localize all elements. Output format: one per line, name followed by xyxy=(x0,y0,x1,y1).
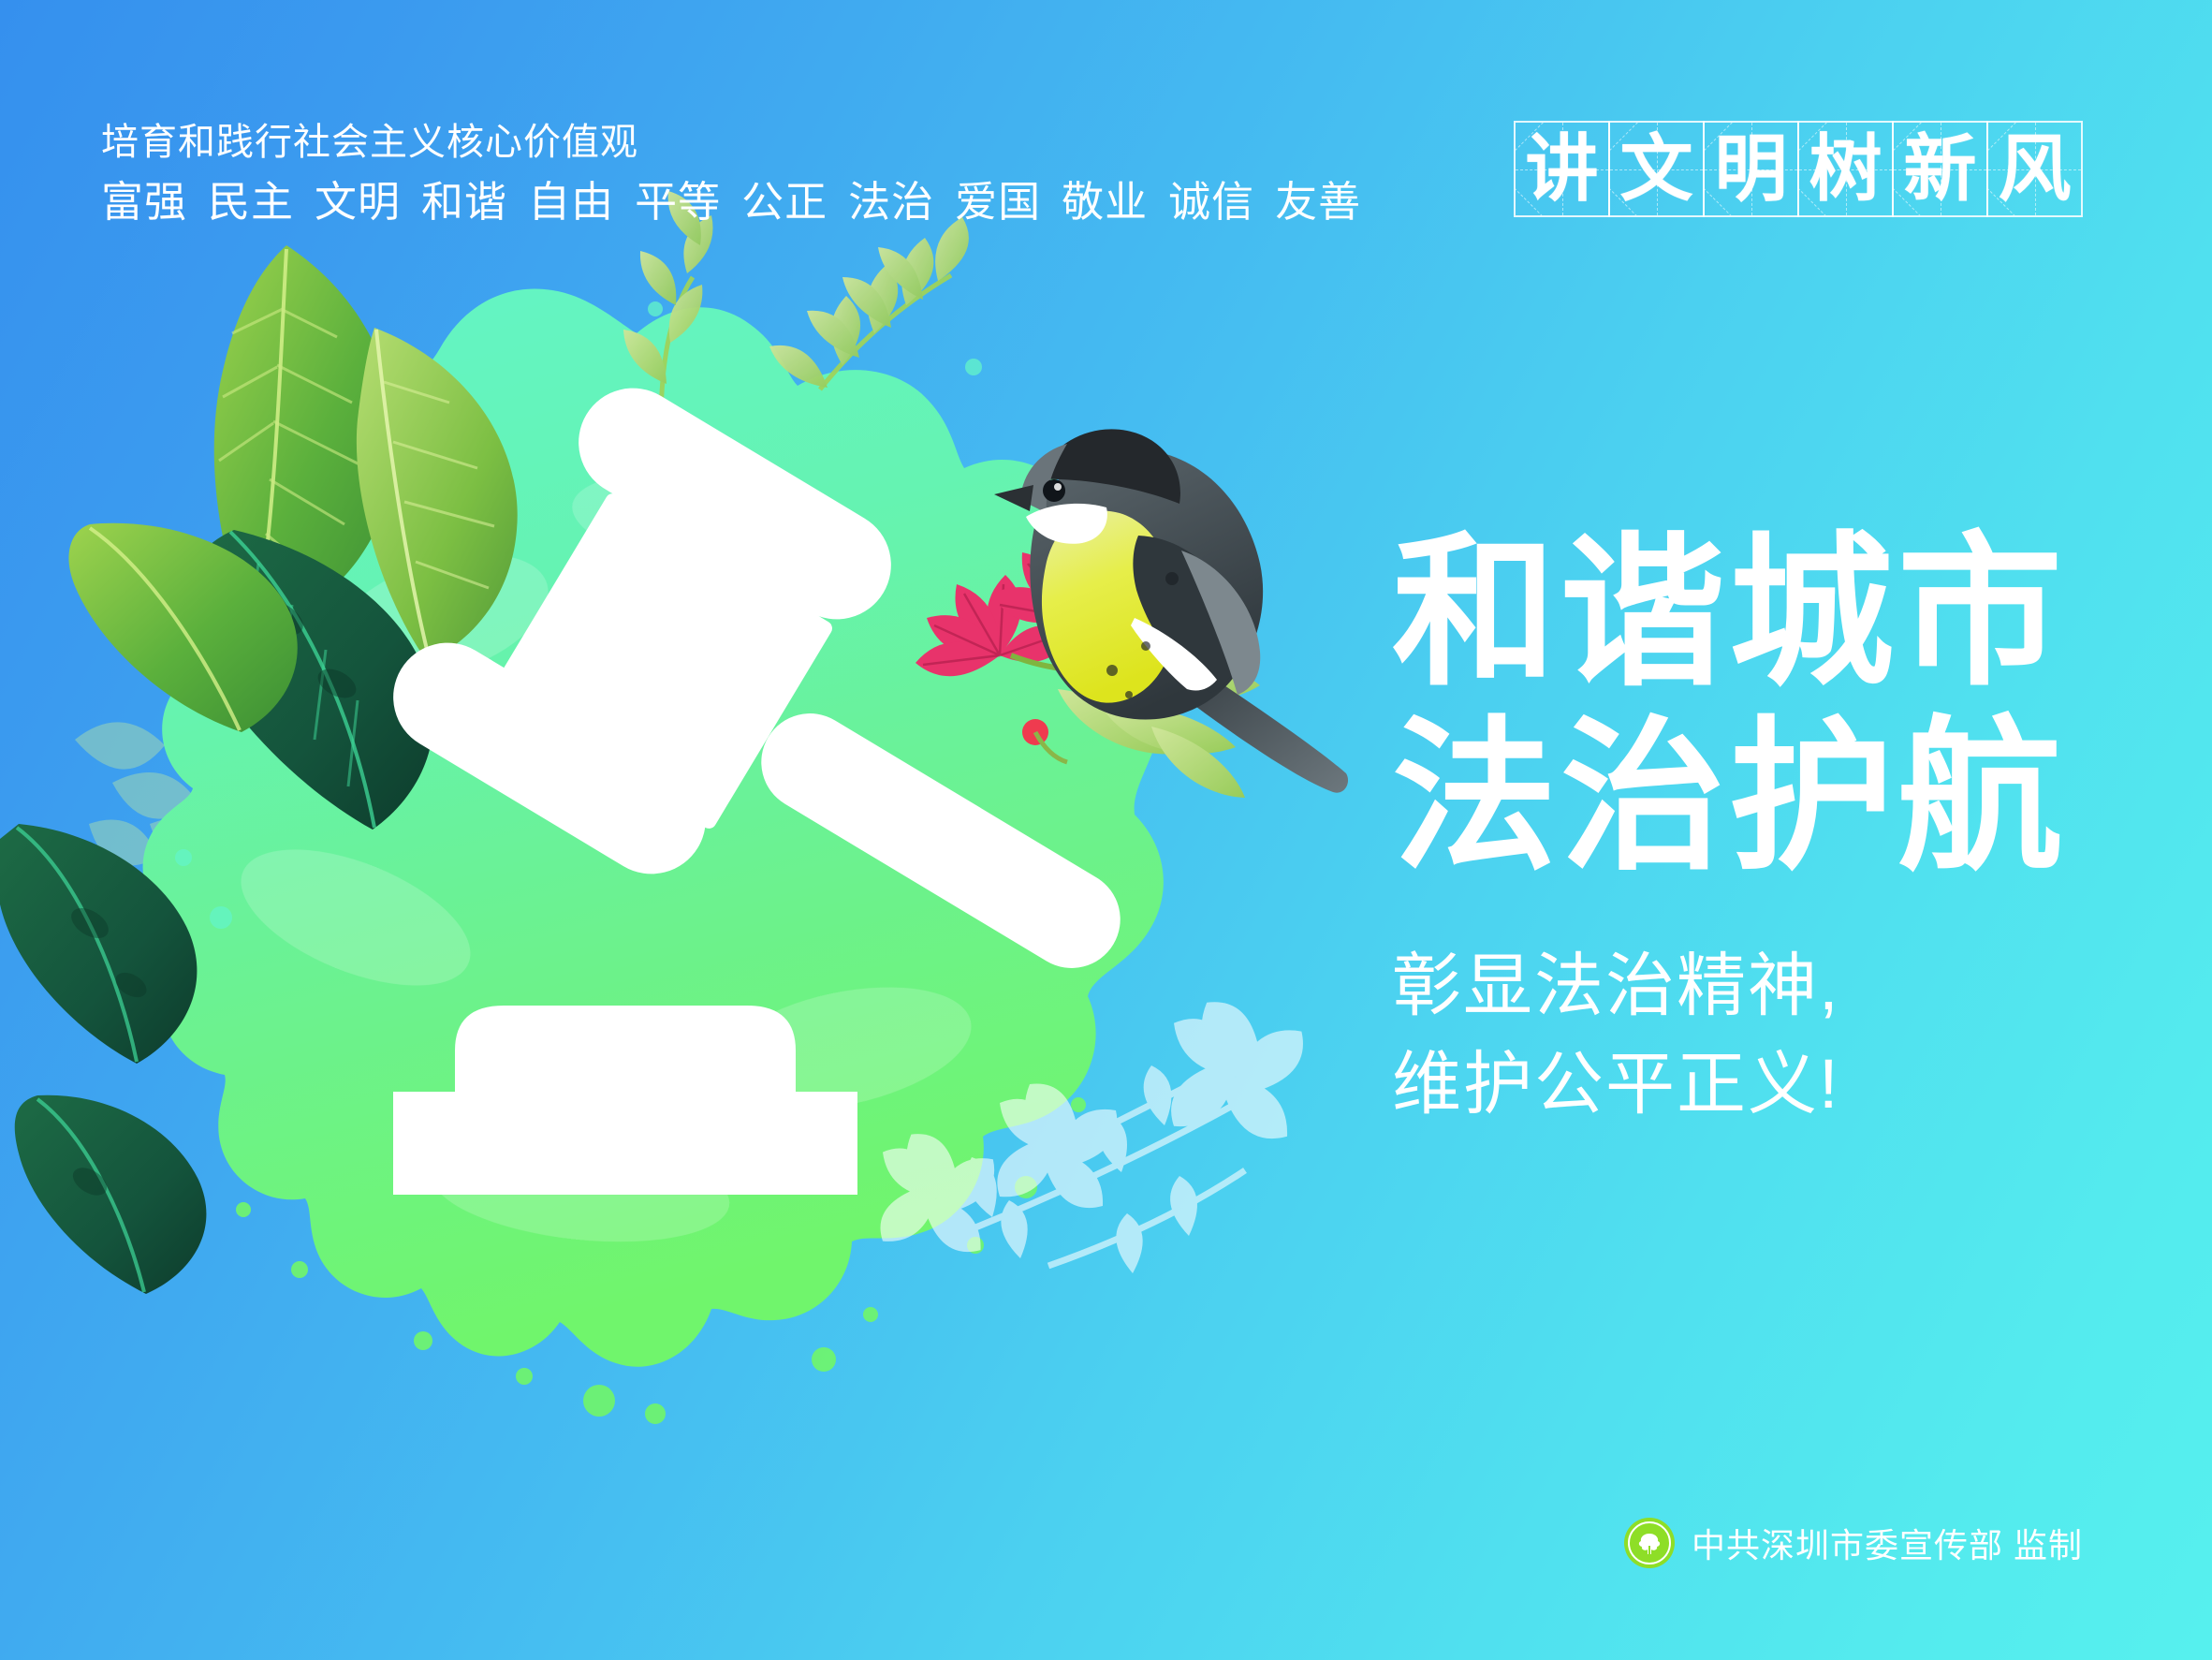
headline-line-1: 和谐城市 xyxy=(1392,522,2066,706)
subtitle-line-1: 彰显法治精神, xyxy=(1392,936,1840,1035)
core-value-word: 公正 xyxy=(741,178,828,226)
artwork-group xyxy=(0,0,1404,1660)
slogan-line-1: 培育和践行社会主义核心价值观 xyxy=(101,120,1361,167)
grid-character: 明 xyxy=(1705,123,1797,215)
subtitle-line-2: 维护公平正义! xyxy=(1392,1035,1840,1133)
poster-canvas: 培育和践行社会主义核心价值观 富强民主文明和谐自由平等公正法治爱国敬业诚信友善 … xyxy=(0,0,2212,1660)
grid-character: 树 xyxy=(1799,123,1892,215)
grid-character: 风 xyxy=(1988,123,2081,215)
core-value-word: 和谐 xyxy=(421,178,507,226)
credit-line: 中共深圳市委宣传部 监制 xyxy=(1624,1518,2083,1568)
public-service-advertising-badge-icon xyxy=(1624,1518,1675,1568)
artwork-svg xyxy=(0,0,1404,1660)
core-value-word: 法治 xyxy=(848,178,934,226)
core-value-word: 友善 xyxy=(1275,178,1361,226)
core-value-word: 爱国 xyxy=(955,178,1041,226)
grid-cell: 新 xyxy=(1892,121,1988,217)
headline-line-2: 法治护航 xyxy=(1392,706,2066,890)
grid-cell: 树 xyxy=(1797,121,1894,217)
core-value-word: 民主 xyxy=(208,178,294,226)
core-value-word: 平等 xyxy=(635,178,721,226)
core-value-word: 文明 xyxy=(315,178,401,226)
grid-cell: 讲 xyxy=(1514,121,1610,217)
slogan-line-2: 富强民主文明和谐自由平等公正法治爱国敬业诚信友善 xyxy=(101,175,1361,230)
core-value-word: 自由 xyxy=(528,178,614,226)
core-value-word: 富强 xyxy=(101,178,187,226)
grid-character: 新 xyxy=(1894,123,1986,215)
core-values-slogan: 培育和践行社会主义核心价值观 富强民主文明和谐自由平等公正法治爱国敬业诚信友善 xyxy=(101,120,1361,229)
credit-text: 中共深圳市委宣传部 监制 xyxy=(1692,1519,2083,1567)
core-value-word: 敬业 xyxy=(1062,178,1148,226)
grid-character: 文 xyxy=(1610,123,1703,215)
subtitle-block: 彰显法治精神, 维护公平正义! xyxy=(1392,936,1840,1133)
tree-icon xyxy=(1633,1527,1665,1559)
grid-character: 讲 xyxy=(1516,123,1608,215)
core-value-word: 诚信 xyxy=(1168,178,1254,226)
grid-cell: 明 xyxy=(1703,121,1799,217)
grid-cell: 风 xyxy=(1986,121,2083,217)
campaign-slogan-grid: 讲 文 明 树 新 xyxy=(1514,121,2081,217)
grid-cell: 文 xyxy=(1608,121,1705,217)
main-headline: 和谐城市 法治护航 xyxy=(1392,522,2066,890)
